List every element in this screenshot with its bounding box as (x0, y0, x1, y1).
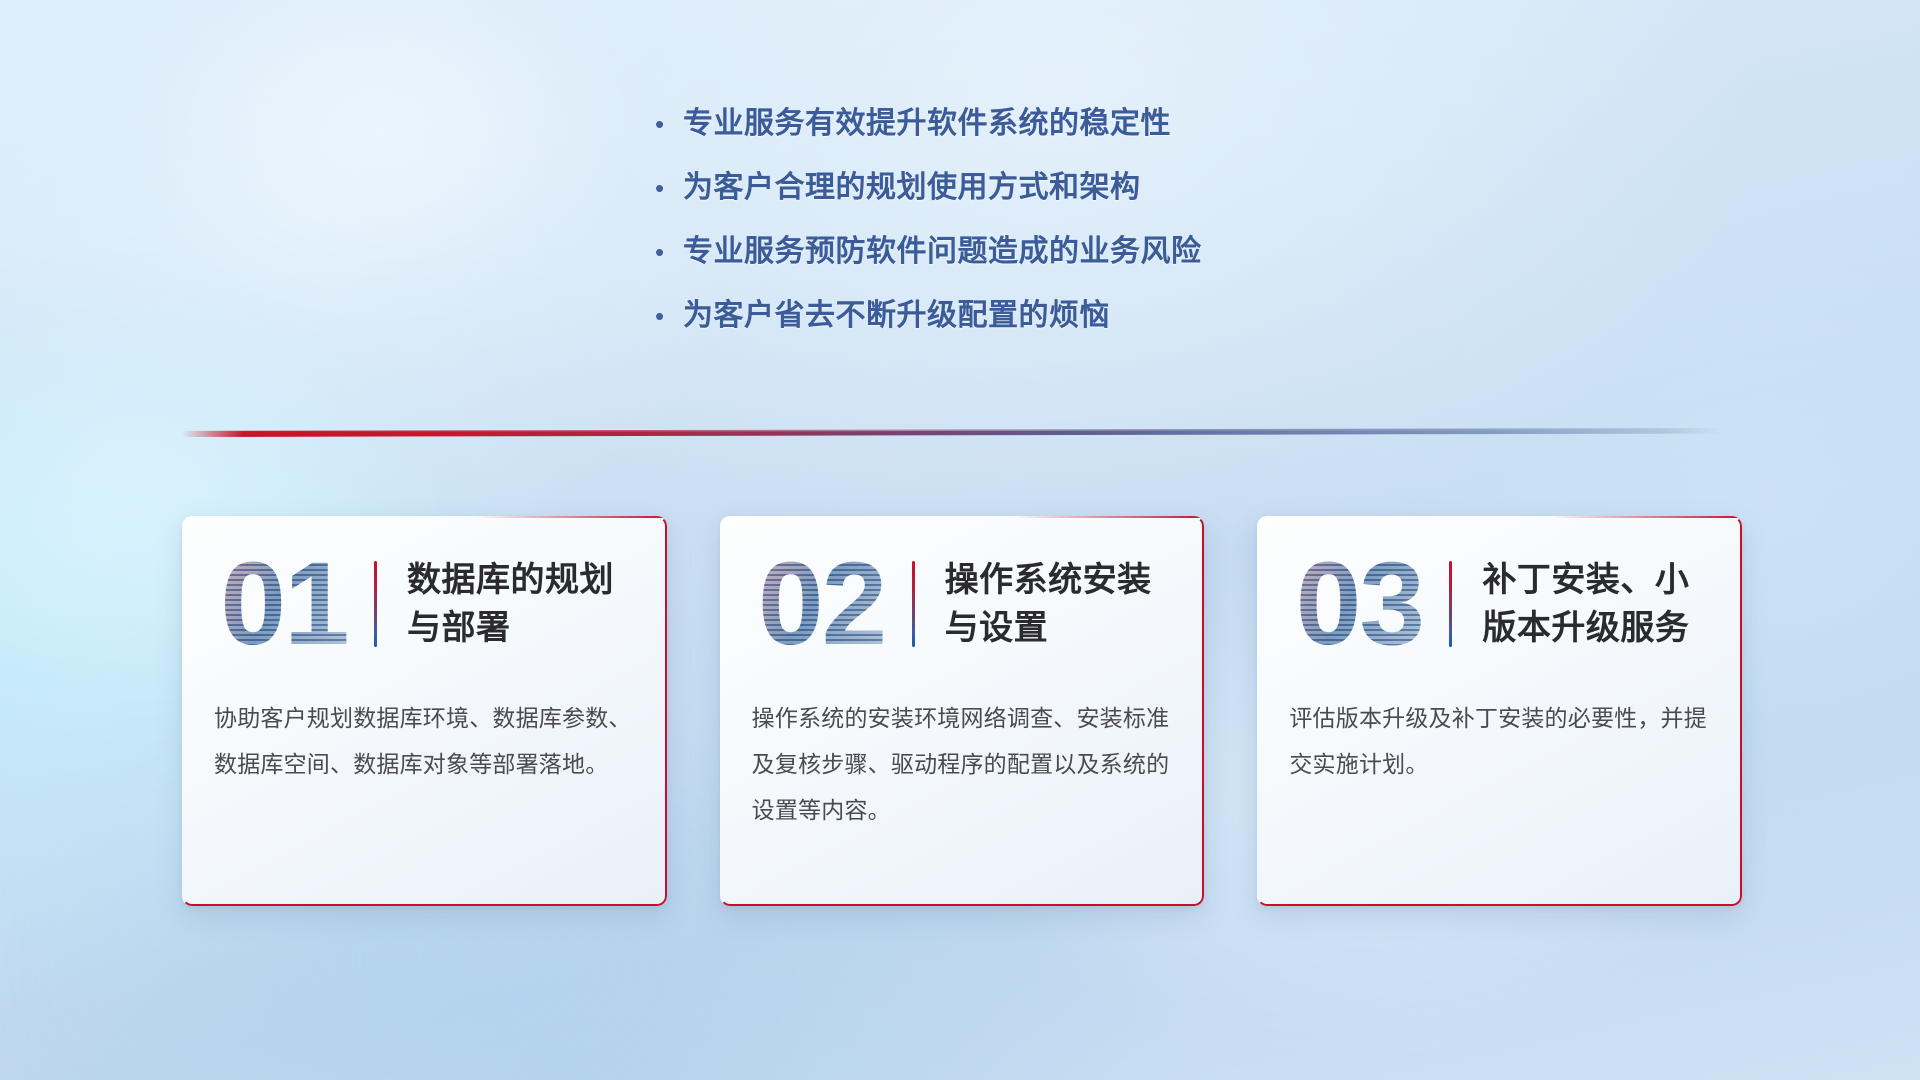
list-item: • 为客户省去不断升级配置的烦恼 (655, 296, 1555, 360)
slide-root: • 专业服务有效提升软件系统的稳定性 • 为客户合理的规划使用方式和架构 • 专… (0, 0, 1920, 1080)
bullet-text: 专业服务预防软件问题造成的业务风险 (683, 232, 1202, 272)
card-description: 协助客户规划数据库环境、数据库参数、数据库空间、数据库对象等部署落地。 (182, 695, 667, 787)
card-number: 01 (208, 544, 360, 664)
bullet-marker-icon: • (655, 296, 683, 336)
card-divider (1449, 561, 1452, 647)
card-title: 操作系统安装 与设置 (945, 556, 1152, 652)
card-description: 评估版本升级及补丁安装的必要性，并提交实施计划。 (1257, 695, 1742, 787)
card-number: 02 (746, 544, 898, 664)
service-card[interactable]: 02 操作系统安装 与设置 操作系统的安装环境网络调查、安装标准及复核步骤、驱动… (720, 516, 1205, 906)
list-item: • 专业服务预防软件问题造成的业务风险 (655, 232, 1555, 296)
bullet-marker-icon: • (655, 104, 683, 144)
bullet-marker-icon: • (655, 232, 683, 272)
service-card[interactable]: 03 补丁安装、小 版本升级服务 评估版本升级及补丁安装的必要性，并提交实施计划… (1257, 516, 1742, 906)
card-divider (912, 561, 915, 647)
card-title: 补丁安装、小 版本升级服务 (1482, 556, 1689, 652)
card-header: 02 操作系统安装 与设置 (720, 516, 1205, 691)
card-header: 01 数据库的规划 与部署 (182, 516, 667, 691)
background-glow-top (120, 0, 640, 320)
list-item: • 专业服务有效提升软件系统的稳定性 (655, 104, 1555, 168)
card-title: 数据库的规划 与部署 (407, 556, 614, 652)
list-item: • 为客户合理的规划使用方式和架构 (655, 168, 1555, 232)
section-divider (182, 428, 1722, 437)
card-divider (374, 561, 377, 647)
bullet-marker-icon: • (655, 168, 683, 208)
service-card-group: 01 数据库的规划 与部署 协助客户规划数据库环境、数据库参数、数据库空间、数据… (182, 516, 1742, 906)
benefits-bullet-list: • 专业服务有效提升软件系统的稳定性 • 为客户合理的规划使用方式和架构 • 专… (655, 104, 1555, 360)
bullet-text: 为客户合理的规划使用方式和架构 (683, 168, 1141, 208)
bullet-text: 专业服务有效提升软件系统的稳定性 (683, 104, 1171, 144)
card-header: 03 补丁安装、小 版本升级服务 (1257, 516, 1742, 691)
card-description: 操作系统的安装环境网络调查、安装标准及复核步骤、驱动程序的配置以及系统的设置等内… (720, 695, 1205, 833)
card-number: 03 (1283, 544, 1435, 664)
bullet-text: 为客户省去不断升级配置的烦恼 (683, 296, 1110, 336)
service-card[interactable]: 01 数据库的规划 与部署 协助客户规划数据库环境、数据库参数、数据库空间、数据… (182, 516, 667, 906)
